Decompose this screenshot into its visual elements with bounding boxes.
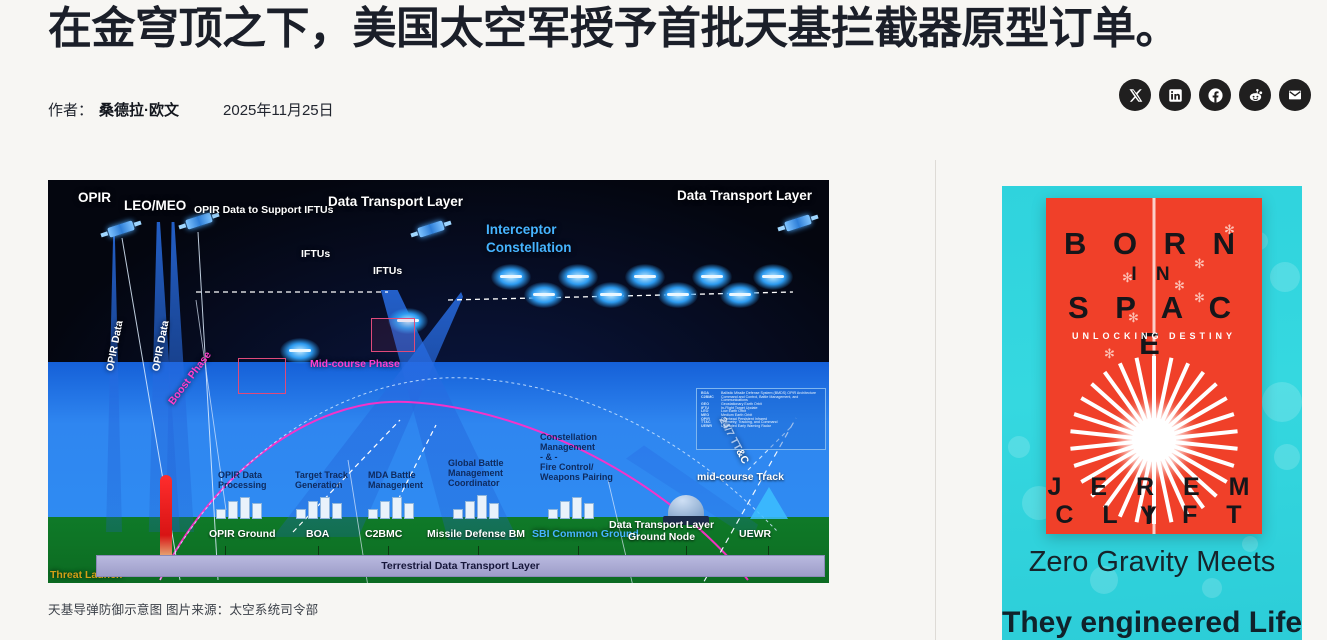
interceptor-2: [558, 264, 598, 290]
content-sidebar-divider: [935, 160, 936, 640]
diagram-image[interactable]: OPIR LEO/MEO OPIR Data to Support IFTUs …: [48, 180, 829, 583]
label-data-transport-layer-left: Data Transport Layer: [328, 194, 463, 209]
share-linkedin-button[interactable]: [1159, 79, 1191, 111]
label-iftus-1: IFTUs: [301, 248, 330, 260]
interceptor-9: [720, 282, 760, 308]
interceptor-1: [491, 264, 531, 290]
byline-date: 2025年11月25日: [223, 99, 334, 120]
book-genre: A SCI-FI GALAXY NOVEL: [1046, 532, 1262, 534]
label-interceptor-constellation-line1: Interceptor: [486, 222, 557, 237]
book-title-line2: I N: [1046, 264, 1262, 286]
ground-facility-uewr: [750, 487, 788, 519]
book-author-line2: C L I F T: [1046, 501, 1262, 530]
ground-caption-sbi-common-ground: Constellation Management - & - Fire Cont…: [540, 432, 613, 482]
bokeh-decoration: [1262, 382, 1302, 422]
ground-facility-boa: [296, 497, 342, 519]
targeting-reticle-2: [371, 318, 415, 352]
book-subtitle: UNLOCKING DESTINY: [1046, 331, 1262, 341]
byline-label: 作者：: [48, 99, 93, 120]
threat-missile: [160, 475, 172, 561]
share-buttons: [1119, 79, 1311, 111]
ad-tagline-line2: They engineered Life in: [1002, 606, 1302, 640]
x-icon: [1128, 88, 1143, 103]
bokeh-decoration: [1274, 444, 1300, 470]
ground-facility-missile-defense-bm: [453, 495, 499, 519]
ad-tagline-line1: Zero Gravity Meets: [1002, 546, 1302, 579]
article-page: 在金穹顶之下，美国太空军授予首批天基拦截器原型订单。 作者： 桑德拉·欧文 20…: [0, 0, 1327, 640]
bokeh-decoration: [1008, 436, 1030, 458]
bokeh-decoration: [1270, 262, 1300, 292]
label-opir-data-support-iftus: OPIR Data to Support IFTUs: [194, 204, 333, 216]
ground-facility-c2bmc: [368, 497, 414, 519]
share-reddit-button[interactable]: [1239, 79, 1271, 111]
reddit-icon: [1247, 87, 1264, 104]
main-content: OPIR LEO/MEO OPIR Data to Support IFTUs …: [48, 180, 829, 618]
ground-caption-c2bmc: MDA Battle Management: [368, 470, 423, 490]
seed-decoration: ✻: [1174, 278, 1185, 294]
diagram-legend: BOABallistic Missile Defense System (BMD…: [696, 388, 826, 450]
ground-name-uewr: UEWR: [739, 528, 771, 540]
bokeh-decoration: [1202, 578, 1222, 598]
ground-facility-opir: [216, 497, 262, 519]
targeting-reticle-1: [238, 358, 286, 394]
article-header: 在金穹顶之下，美国太空军授予首批天基拦截器原型订单。 作者： 桑德拉·欧文 20…: [0, 0, 1327, 131]
label-midcourse-phase: Mid-course Phase: [310, 358, 400, 370]
ground-caption-missile-defense-bm: Global Battle Management Coordinator: [448, 458, 504, 488]
share-email-button[interactable]: [1279, 79, 1311, 111]
interceptor-5: [753, 264, 793, 290]
page-title: 在金穹顶之下，美国太空军授予首批天基拦截器原型订单。: [48, 4, 1279, 55]
ground-facility-sbi-common-ground: [548, 497, 594, 519]
legend-row: UEWRUpgraded Early Warning Radar: [701, 425, 821, 429]
seed-decoration: ✻: [1224, 222, 1235, 238]
byline-author[interactable]: 桑德拉·欧文: [99, 99, 179, 120]
facebook-icon: [1207, 87, 1224, 104]
label-opir: OPIR: [78, 190, 111, 205]
ground-name-c2bmc: C2BMC: [365, 528, 402, 540]
legend-key: UEWR: [701, 425, 717, 429]
sunburst-core: [1132, 418, 1176, 462]
interceptor-3: [625, 264, 665, 290]
ground-name-missile-defense-bm: Missile Defense BM: [427, 528, 525, 540]
seed-decoration: ✻: [1194, 290, 1205, 306]
ground-name-dtl-ground-node: Data Transport Layer Ground Node: [609, 519, 714, 543]
label-iftus-2: IFTUs: [373, 265, 402, 277]
interceptor-8: [658, 282, 698, 308]
ground-caption-boa: Target Track Generation: [295, 470, 348, 490]
share-x-button[interactable]: [1119, 79, 1151, 111]
label-leo-meo: LEO/MEO: [124, 198, 186, 213]
legend-value: Upgraded Early Warning Radar: [721, 425, 771, 429]
figure-caption: 天基导弹防御示意图 图片来源：太空系统司令部: [48, 599, 829, 618]
ground-name-opir: OPIR Ground: [209, 528, 276, 540]
linkedin-icon: [1168, 88, 1183, 103]
label-interceptor-constellation-line2: Constellation: [486, 240, 572, 255]
article-figure: OPIR LEO/MEO OPIR Data to Support IFTUs …: [48, 180, 829, 618]
byline: 作者： 桑德拉·欧文 2025年11月25日: [48, 89, 1279, 131]
seed-decoration: ✻: [1128, 310, 1139, 326]
ground-name-boa: BOA: [306, 528, 329, 540]
interceptor-7: [591, 282, 631, 308]
label-data-transport-layer-right: Data Transport Layer: [677, 188, 812, 203]
terrestrial-data-transport-layer-bar: Terrestrial Data Transport Layer: [96, 555, 825, 577]
seed-decoration: ✻: [1122, 270, 1133, 286]
ground-caption-opir: OPIR Data Processing: [218, 470, 267, 490]
label-midcourse-track: mid-course Track: [697, 471, 784, 483]
seed-decoration: ✻: [1194, 256, 1205, 272]
sidebar-advertisement[interactable]: B O R N I N S P A C E UNLOCKING DESTINY …: [1002, 186, 1302, 640]
interceptor-6: [524, 282, 564, 308]
email-icon: [1287, 87, 1303, 103]
book-cover[interactable]: B O R N I N S P A C E UNLOCKING DESTINY …: [1046, 198, 1262, 534]
share-facebook-button[interactable]: [1199, 79, 1231, 111]
